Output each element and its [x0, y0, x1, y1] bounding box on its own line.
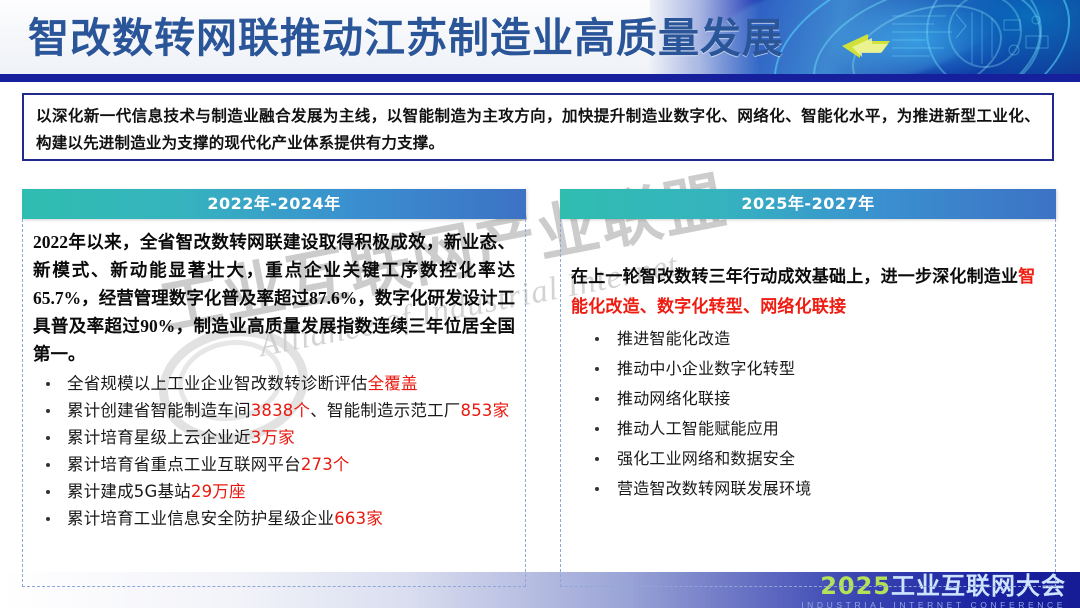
panel-left-body: 2022年以来，全省智改数转网联建设取得积极成效，新业态、新模式、新动能显著壮大… — [22, 219, 526, 587]
bullet-highlight: 全覆盖 — [368, 374, 418, 393]
list-item: 累计创建省智能制造车间3838个、智能制造示范工厂853家 — [33, 397, 515, 424]
bullet-lead: 累计培育省重点工业互联网平台 — [67, 455, 301, 474]
list-item: 推动中小企业数字化转型 — [571, 354, 1045, 384]
panel-right-top-spacer — [571, 228, 1045, 262]
summary-text: 以深化新一代信息技术与制造业融合发展为主线，以智能制造为主攻方向，加快提升制造业… — [36, 103, 1040, 157]
conference-name-en: INDUSTRIAL INTERNET CONFERENCE — [801, 600, 1066, 608]
bullet-lead: 累计建成5G基站 — [67, 482, 191, 501]
page-title: 智改数转网联推动江苏制造业高质量发展 — [28, 6, 784, 70]
panel-left-heading: 2022年-2024年 — [22, 189, 526, 219]
slide-root: 智改数转网联推动江苏制造业高质量发展 以深化新一代信息技术与制造业融合发展为主线… — [0, 0, 1080, 608]
list-item: 累计培育星级上云企业近3万家 — [33, 424, 515, 451]
bullet-lead: 累计培育星级上云企业近 — [67, 428, 251, 447]
list-item: 推动网络化联接 — [571, 384, 1045, 414]
list-item: 全省规模以上工业企业智改数转诊断评估全覆盖 — [33, 370, 515, 397]
panel-left-bullet-list: 全省规模以上工业企业智改数转诊断评估全覆盖 累计创建省智能制造车间3838个、智… — [33, 370, 515, 532]
graphic-circuit-lines — [886, 6, 1066, 70]
panel-right-bullet-list: 推进智能化改造 推动中小企业数字化转型 推动网络化联接 推动人工智能赋能应用 强… — [571, 324, 1045, 504]
summary-callout-box: 以深化新一代信息技术与制造业融合发展为主线，以智能制造为主攻方向，加快提升制造业… — [22, 93, 1054, 161]
list-item: 推动人工智能赋能应用 — [571, 414, 1045, 444]
bullet-lead: 累计创建省智能制造车间 — [67, 401, 251, 420]
list-item: 营造智改数转网联发展环境 — [571, 474, 1045, 504]
panel-right-paragraph: 在上一轮智改数转三年行动成效基础上，进一步深化制造业智能化改造、数字化转型、网络… — [571, 262, 1045, 322]
panel-left-paragraph: 2022年以来，全省智改数转网联建设取得积极成效，新业态、新模式、新动能显著壮大… — [33, 228, 515, 368]
list-item: 累计建成5G基站29万座 — [33, 478, 515, 505]
bullet-tail: 、智能制造示范工厂 — [310, 401, 460, 420]
bullet-highlight: 3万家 — [251, 428, 295, 447]
bullet-lead: 累计培育工业信息安全防护星级企业 — [67, 509, 334, 528]
bullet-highlight: 3838个 — [251, 401, 311, 420]
list-item: 推进智能化改造 — [571, 324, 1045, 354]
conference-arrow-logo-icon — [838, 30, 894, 60]
list-item: 累计培育工业信息安全防护星级企业663家 — [33, 505, 515, 532]
list-item: 强化工业网络和数据安全 — [571, 444, 1045, 474]
header-accent-stripe — [0, 74, 1080, 82]
bullet-lead: 全省规模以上工业企业智改数转诊断评估 — [67, 374, 368, 393]
bullet-highlight: 273个 — [301, 455, 350, 474]
paragraph-lead: 在上一轮智改数转三年行动成效基础上，进一步深化制造业 — [571, 267, 1018, 287]
slide-header: 智改数转网联推动江苏制造业高质量发展 — [0, 0, 1080, 82]
panel-2022-2024: 2022年-2024年 2022年以来，全省智改数转网联建设取得积极成效，新业态… — [22, 189, 526, 587]
list-item: 累计培育省重点工业互联网平台273个 — [33, 451, 515, 478]
bullet-highlight: 29万座 — [191, 482, 246, 501]
panel-right-heading: 2025年-2027年 — [560, 189, 1056, 219]
bullet-highlight-2: 853家 — [461, 401, 510, 420]
panel-2025-2027: 2025年-2027年 在上一轮智改数转三年行动成效基础上，进一步深化制造业智能… — [560, 189, 1056, 587]
panel-right-body: 在上一轮智改数转三年行动成效基础上，进一步深化制造业智能化改造、数字化转型、网络… — [560, 219, 1056, 587]
bullet-highlight: 663家 — [334, 509, 383, 528]
